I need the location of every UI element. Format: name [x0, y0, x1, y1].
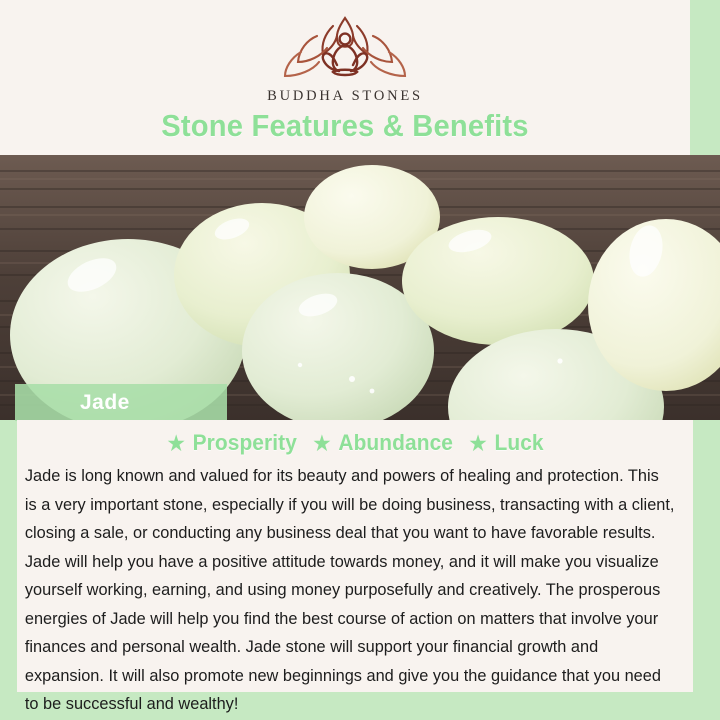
star-icon: ★ [468, 432, 488, 455]
stone-name-label: Jade [80, 391, 130, 415]
brand-logo: BUDDHA STONES [0, 12, 690, 105]
lotus-meditation-icon [281, 12, 409, 84]
star-icon: ★ [312, 432, 332, 455]
benefit-item: ★ Luck [468, 430, 543, 456]
benefits-row: ★ Prosperity ★ Abundance ★ Luck [34, 430, 676, 456]
stone-photo [0, 155, 720, 420]
benefit-label: Prosperity [193, 430, 297, 456]
page-title: Stone Features & Benefits [21, 108, 670, 144]
brand-name: BUDDHA STONES [267, 88, 423, 105]
benefit-item: ★ Abundance [312, 430, 453, 456]
stone-photo-illustration [0, 155, 720, 420]
description-text: Jade is long known and valued for its be… [17, 462, 683, 719]
stone-name-tag: Jade [15, 384, 227, 421]
star-icon: ★ [166, 432, 186, 455]
benefit-label: Luck [494, 430, 543, 456]
benefit-item: ★ Prosperity [166, 430, 297, 456]
product-info-poster: BUDDHA STONES Stone Features & Benefits [0, 0, 720, 720]
benefit-label: Abundance [338, 430, 453, 456]
